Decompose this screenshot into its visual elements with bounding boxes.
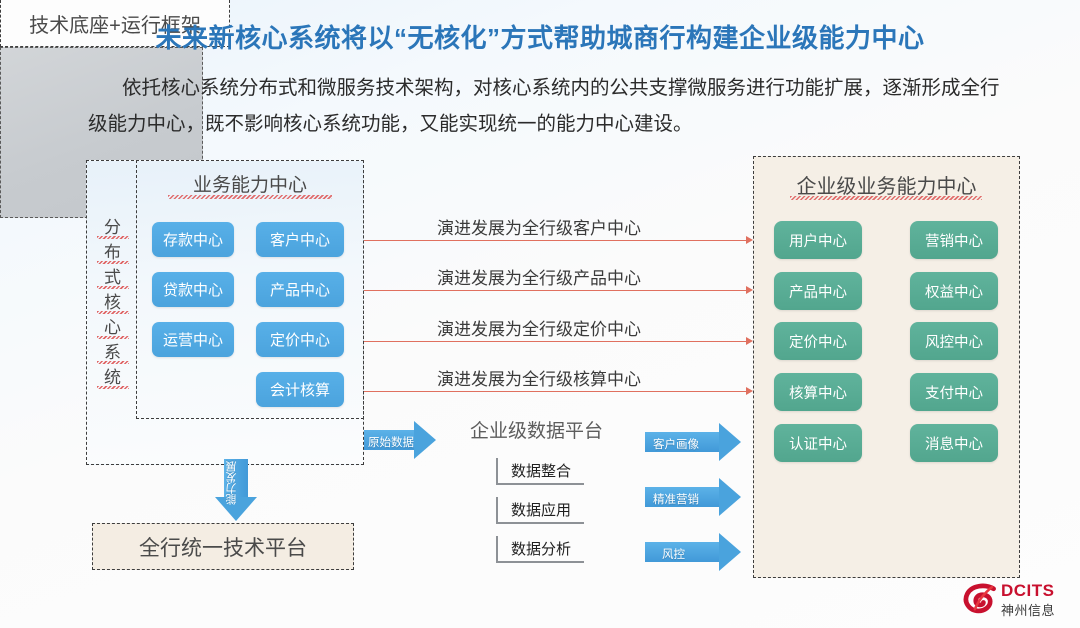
company-logo: DCITS 神州信息 bbox=[963, 578, 1075, 623]
logo-text-en: DCITS bbox=[1001, 581, 1055, 601]
evolution-label-pricing: 演进发展为全行级定价中心 bbox=[437, 315, 641, 340]
logo-text-cn: 神州信息 bbox=[1001, 600, 1055, 619]
arrow-head bbox=[719, 533, 741, 571]
core-label-char: 系 bbox=[96, 340, 130, 365]
evolution-arrowhead bbox=[746, 286, 753, 294]
evolution-label-customer: 演进发展为全行级客户中心 bbox=[437, 214, 641, 239]
output-arrow-customer-profile: 客户画像 bbox=[645, 423, 743, 461]
core-box-product[interactable]: 产品中心 bbox=[256, 272, 344, 307]
evolution-arrowhead bbox=[746, 387, 753, 395]
output-arrow-precision-marketing: 精准营销 bbox=[645, 478, 743, 516]
arrow-head bbox=[719, 423, 741, 461]
core-label-char: 式 bbox=[96, 265, 130, 290]
evolution-arrowhead bbox=[746, 337, 753, 345]
evolution-line bbox=[364, 240, 746, 241]
data-item-analysis[interactable]: 数据分析 bbox=[496, 536, 584, 563]
core-box-loan[interactable]: 贷款中心 bbox=[152, 272, 234, 307]
business-capability-heading: 业务能力中心 bbox=[136, 170, 364, 197]
output-label-risk-control: 风控 bbox=[662, 546, 685, 562]
spellcheck-underline bbox=[790, 196, 982, 200]
core-box-customer[interactable]: 客户中心 bbox=[256, 222, 344, 257]
slide-canvas: 未来新核心系统将以“无核化”方式帮助城商行构建企业级能力中心 依托核心系统分布式… bbox=[0, 0, 1080, 628]
ent-box-authentication[interactable]: 认证中心 bbox=[774, 424, 862, 462]
core-label-char: 统 bbox=[96, 365, 130, 390]
ent-box-accounting[interactable]: 核算中心 bbox=[774, 373, 862, 411]
enterprise-capability-panel bbox=[753, 156, 1020, 578]
spellcheck-underline bbox=[168, 195, 332, 199]
ent-box-product[interactable]: 产品中心 bbox=[774, 272, 862, 310]
data-item-integration[interactable]: 数据整合 bbox=[496, 458, 584, 485]
ent-box-payment[interactable]: 支付中心 bbox=[910, 373, 998, 411]
ent-box-marketing[interactable]: 营销中心 bbox=[910, 221, 998, 259]
unified-tech-platform: 全行统一技术平台 bbox=[92, 523, 354, 570]
core-label-char: 分 bbox=[96, 215, 130, 240]
dcits-swirl-icon bbox=[963, 582, 997, 616]
capability-development-label: 能力发展 bbox=[226, 461, 246, 505]
output-arrow-risk-control: 风控 bbox=[645, 533, 743, 571]
evolution-label-product: 演进发展为全行级产品中心 bbox=[437, 264, 641, 289]
raw-data-arrow: 原始数据 bbox=[364, 421, 436, 459]
page-title: 未来新核心系统将以“无核化”方式帮助城商行构建企业级能力中心 bbox=[0, 18, 1080, 55]
core-label-char: 核 bbox=[96, 290, 130, 315]
page-subtitle: 依托核心系统分布式和微服务技术架构，对核心系统内的公共支撑微服务进行功能扩展，逐… bbox=[88, 70, 1008, 142]
ent-box-message[interactable]: 消息中心 bbox=[910, 424, 998, 462]
evolution-label-accounting: 演进发展为全行级核算中心 bbox=[437, 365, 641, 390]
evolution-line bbox=[364, 341, 746, 342]
arrow-head bbox=[414, 421, 436, 459]
ent-box-user[interactable]: 用户中心 bbox=[774, 221, 862, 259]
arrow-head bbox=[719, 478, 741, 516]
core-box-deposit[interactable]: 存款中心 bbox=[152, 222, 234, 257]
ent-box-rights[interactable]: 权益中心 bbox=[910, 272, 998, 310]
core-box-pricing[interactable]: 定价中心 bbox=[256, 322, 344, 357]
core-label-char: 布 bbox=[96, 240, 130, 265]
output-label-precision-marketing: 精准营销 bbox=[653, 491, 699, 507]
data-platform-heading: 企业级数据平台 bbox=[436, 416, 637, 443]
raw-data-label: 原始数据 bbox=[368, 434, 414, 450]
evolution-line bbox=[364, 290, 746, 291]
core-box-accounting[interactable]: 会计核算 bbox=[256, 372, 344, 407]
ent-box-risk[interactable]: 风控中心 bbox=[910, 322, 998, 360]
data-item-application[interactable]: 数据应用 bbox=[496, 497, 584, 524]
evolution-arrowhead bbox=[746, 236, 753, 244]
distributed-core-label: 分 布 式 核 心 系 统 bbox=[96, 215, 130, 390]
evolution-line bbox=[364, 391, 746, 392]
enterprise-capability-heading: 企业级业务能力中心 bbox=[753, 170, 1020, 199]
ent-box-pricing[interactable]: 定价中心 bbox=[774, 322, 862, 360]
core-label-char: 心 bbox=[96, 315, 130, 340]
core-box-operations[interactable]: 运营中心 bbox=[152, 322, 234, 357]
capability-development-arrow: 能力发展 bbox=[215, 459, 257, 521]
output-label-customer-profile: 客户画像 bbox=[653, 436, 699, 452]
